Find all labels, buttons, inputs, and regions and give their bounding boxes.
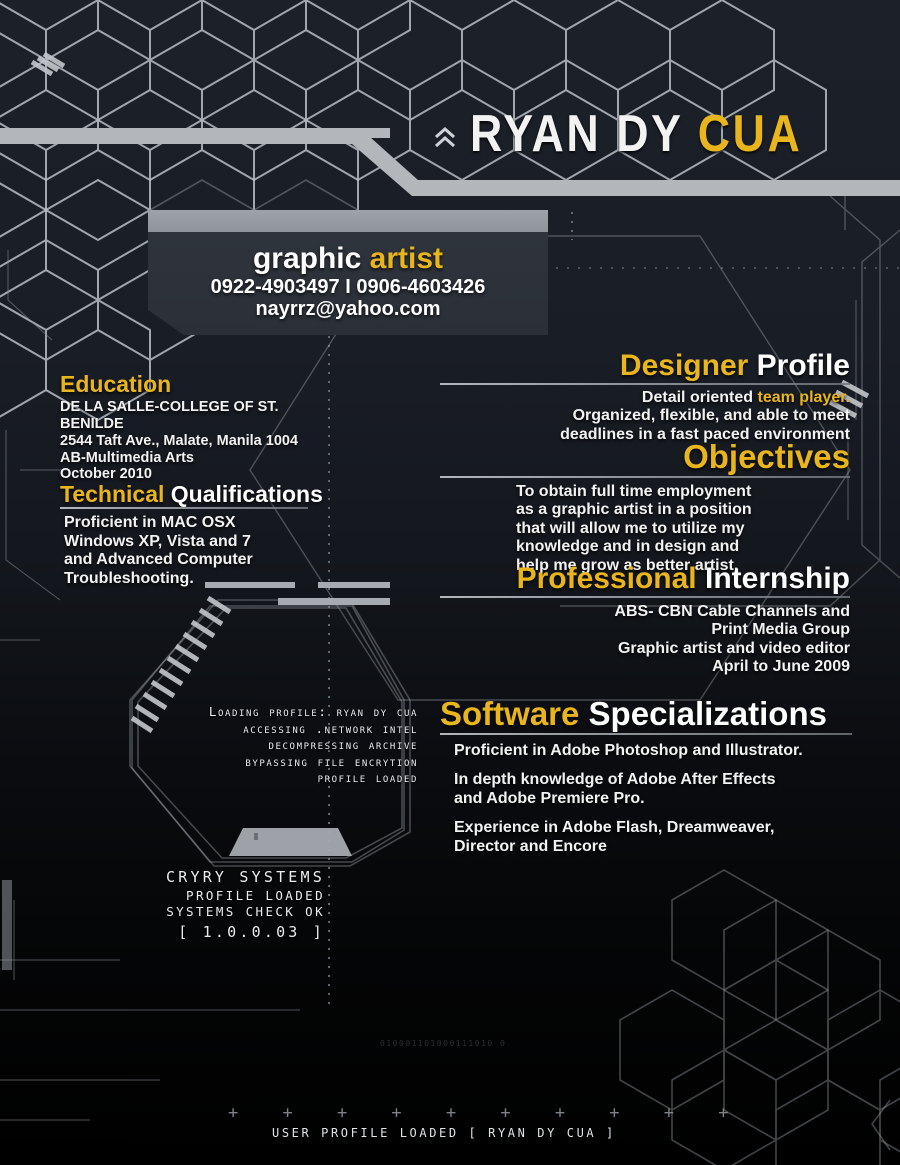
- systems-version: [ 1.0.0.03 ]: [100, 923, 325, 943]
- technical-heading-rest: Qualifications: [171, 481, 323, 507]
- internship-heading: Professional Internship: [440, 563, 850, 595]
- technical-line: Troubleshooting.: [64, 570, 310, 589]
- objectives-heading: Objectives: [440, 440, 850, 475]
- internship-line: ABS- CBN Cable Channels and: [440, 603, 850, 622]
- education-body: DE LA SALLE-COLLEGE OF ST. BENILDE 2544 …: [60, 399, 310, 483]
- internship-line: April to June 2009: [440, 658, 850, 677]
- technical-heading: Technical Qualifications: [60, 482, 310, 506]
- software-para-3-line-2: Director and Encore: [454, 838, 852, 857]
- technical-line: Windows XP, Vista and 7: [64, 533, 310, 552]
- systems-profile-status: PROFILE LOADED: [100, 888, 325, 905]
- objectives-line: as a graphic artist in a position: [516, 501, 850, 520]
- education-heading-accent: Education: [60, 371, 171, 397]
- internship-line: Print Media Group: [440, 621, 850, 640]
- technical-line: Proficient in MAC OSX: [64, 514, 310, 533]
- internship-line: Graphic artist and video editor: [440, 640, 850, 659]
- technical-body: Proficient in MAC OSX Windows XP, Vista …: [64, 514, 310, 588]
- phone-numbers[interactable]: 0922-4903497 I 0906-4603426: [148, 276, 548, 298]
- section-technical-qualifications: Technical Qualifications Proficient in M…: [60, 482, 310, 588]
- internship-heading-rest: Internship: [705, 562, 850, 595]
- designer-line-2: Organized, flexible, and able to meet: [440, 407, 850, 426]
- terminal-line: bypassing file encrytion: [150, 754, 418, 771]
- terminal-line: accessing .network intel: [150, 721, 418, 738]
- software-para-2: In depth knowledge of Adobe After Effect…: [454, 771, 852, 808]
- education-line: DE LA SALLE-COLLEGE OF ST. BENILDE: [60, 399, 310, 433]
- terminal-line: Loading profile: ryan dy cua: [150, 704, 418, 721]
- job-role: graphic artist: [148, 242, 548, 276]
- section-education: Education DE LA SALLE-COLLEGE OF ST. BEN…: [60, 372, 310, 483]
- technical-heading-rule: [60, 507, 308, 509]
- objectives-heading-accent: Objectives: [683, 438, 850, 475]
- software-heading: Software Specializations: [440, 697, 852, 732]
- systems-title: CRYRY SYSTEMS: [100, 868, 325, 888]
- objectives-line: To obtain full time employment: [516, 483, 850, 502]
- systems-check-status: SYSTEMS CHECK OK: [100, 904, 325, 921]
- education-line: AB-Multimedia Arts: [60, 450, 310, 467]
- name-first: RYAN DY: [470, 105, 698, 163]
- objectives-heading-rule: [440, 476, 850, 478]
- footer-status-text: USER PROFILE LOADED [ RYAN DY CUA ]: [272, 1126, 616, 1140]
- systems-status-block: CRYRY SYSTEMS PROFILE LOADED SYSTEMS CHE…: [100, 868, 325, 943]
- page-title: RYAN DY CUA: [470, 104, 802, 164]
- section-objectives: Objectives To obtain full time employmen…: [440, 440, 850, 575]
- software-para-2-line-2: and Adobe Premiere Pro.: [454, 790, 852, 809]
- technical-heading-accent: Technical: [60, 481, 171, 507]
- resume-poster: RYAN DY CUA graphic artist 0922-4903497 …: [0, 0, 900, 1165]
- designer-heading-rest: Profile: [757, 349, 850, 382]
- software-para-1: Proficient in Adobe Photoshop and Illust…: [454, 742, 852, 761]
- contact-card: graphic artist 0922-4903497 I 0906-46034…: [148, 210, 548, 335]
- double-chevron-up-icon: [434, 124, 456, 152]
- software-heading-rest: Specializations: [589, 695, 827, 732]
- section-software-specializations: Software Specializations Proficient in A…: [440, 697, 852, 856]
- contact-card-body: graphic artist 0922-4903497 I 0906-46034…: [148, 232, 548, 335]
- section-designer-profile: Designer Profile Detail oriented team pl…: [440, 350, 850, 444]
- internship-body: ABS- CBN Cable Channels and Print Media …: [440, 603, 850, 677]
- software-body: Proficient in Adobe Photoshop and Illust…: [454, 742, 852, 857]
- role-accent: artist: [370, 242, 443, 275]
- name-last: CUA: [698, 105, 803, 163]
- software-heading-accent: Software: [440, 695, 589, 732]
- email-address[interactable]: nayrrz@yahoo.com: [148, 298, 548, 320]
- contact-card-top-bar: [148, 210, 548, 232]
- terminal-line: profile loaded: [150, 770, 418, 787]
- software-para-3: Experience in Adobe Flash, Dreamweaver, …: [454, 819, 852, 856]
- internship-heading-rule: [440, 596, 850, 598]
- designer-profile-heading: Designer Profile: [440, 350, 850, 382]
- education-line: 2544 Taft Ave., Malate, Manila 1004: [60, 433, 310, 450]
- designer-line-1: Detail oriented team player.: [440, 389, 850, 408]
- designer-heading-accent: Designer: [620, 349, 757, 382]
- designer-line-1-pre: Detail oriented: [642, 389, 758, 406]
- terminal-log: Loading profile: ryan dy cua accessing .…: [150, 704, 418, 787]
- education-heading: Education: [60, 372, 310, 396]
- terminal-line: decompressing archive: [150, 737, 418, 754]
- software-heading-rule: [440, 733, 852, 735]
- designer-line-1-accent: team player.: [758, 389, 851, 406]
- section-internship: Professional Internship ABS- CBN Cable C…: [440, 563, 850, 677]
- internship-heading-accent: Professional: [517, 562, 705, 595]
- designer-heading-rule: [440, 383, 850, 385]
- software-para-3-line-1: Experience in Adobe Flash, Dreamweaver,: [454, 819, 852, 838]
- footer-plus-row: + + + + + + + + + +: [228, 1103, 745, 1123]
- software-para-2-line-1: In depth knowledge of Adobe After Effect…: [454, 771, 852, 790]
- objectives-line: knowledge and in design and: [516, 538, 850, 557]
- objectives-line: that will allow me to utilize my: [516, 520, 850, 539]
- binary-decoration: 010001101000111010 0: [380, 1039, 506, 1048]
- technical-line: and Advanced Computer: [64, 551, 310, 570]
- designer-profile-body: Detail oriented team player. Organized, …: [440, 389, 850, 445]
- role-primary: graphic: [253, 242, 370, 275]
